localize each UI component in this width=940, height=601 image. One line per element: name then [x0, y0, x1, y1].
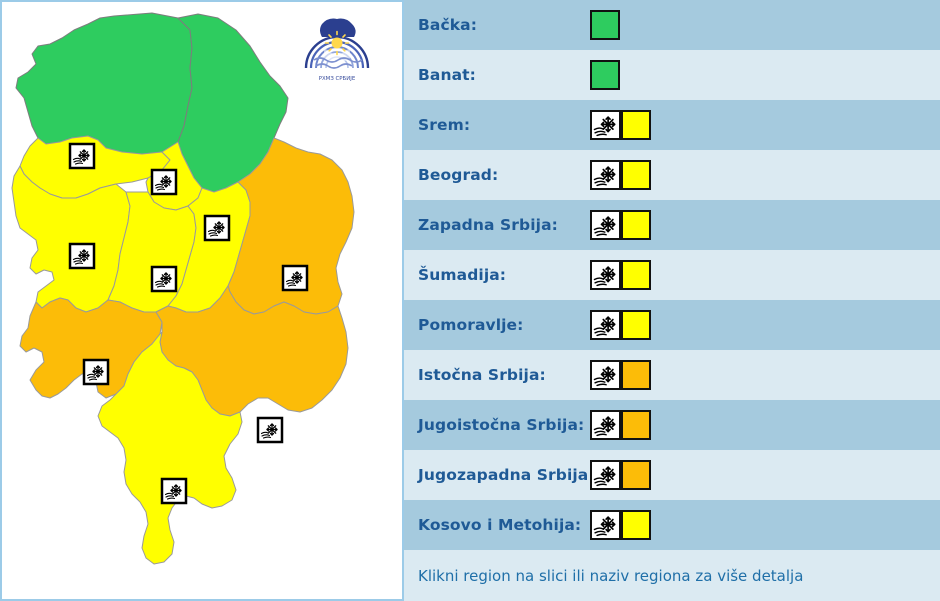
region-link-zapadna-srbija[interactable]: Zapadna Srbija:	[418, 216, 590, 234]
map-icon-pomoravlje	[205, 216, 229, 240]
warning-swatches	[590, 460, 651, 490]
table-row[interactable]: Zapadna Srbija:	[404, 200, 940, 250]
warning-swatches	[590, 10, 620, 40]
map-icon-sumadija	[152, 267, 176, 291]
region-link-beograd[interactable]: Beograd:	[418, 166, 590, 184]
blowing-snow-icon	[590, 410, 621, 440]
warning-swatches	[590, 360, 651, 390]
table-row[interactable]: Srem:	[404, 100, 940, 150]
map-panel: РХМЗ СРБИЈЕ	[0, 0, 404, 601]
level-swatch-yellow	[621, 260, 651, 290]
level-swatch-orange	[621, 460, 651, 490]
warning-swatches	[590, 260, 651, 290]
map-icon-istocna-srbija	[283, 266, 307, 290]
blowing-snow-icon	[590, 110, 621, 140]
region-link-backa[interactable]: Bačka:	[418, 16, 590, 34]
blowing-snow-icon	[590, 210, 621, 240]
warning-swatches	[590, 410, 651, 440]
logo-caption: РХМЗ СРБИЈЕ	[319, 76, 356, 82]
table-row[interactable]: Jugoistočna Srbija:	[404, 400, 940, 450]
rhmz-serbia-logo: РХМЗ СРБИЈЕ	[300, 10, 374, 86]
table-row[interactable]: Istočna Srbija:	[404, 350, 940, 400]
table-row[interactable]: Pomoravlje:	[404, 300, 940, 350]
map-icon-srem	[70, 144, 94, 168]
region-link-jugoistocna-srbija[interactable]: Jugoistočna Srbija:	[418, 416, 590, 434]
table-row[interactable]: Kosovo i Metohija:	[404, 500, 940, 550]
table-row[interactable]: Šumadija:	[404, 250, 940, 300]
warning-swatches	[590, 60, 620, 90]
blowing-snow-icon	[590, 360, 621, 390]
map-icon-kosovo-i-metohija	[162, 479, 186, 503]
map-icon-beograd	[152, 170, 176, 194]
table-footer: Klikni region na slici ili naziv regiona…	[404, 550, 940, 601]
region-link-kosovo-i-metohija[interactable]: Kosovo i Metohija:	[418, 516, 590, 534]
blowing-snow-icon	[590, 460, 621, 490]
level-swatch-yellow	[621, 110, 651, 140]
level-swatch-green	[590, 60, 620, 90]
table-row[interactable]: Jugozapadna Srbija:	[404, 450, 940, 500]
map-icon-zapadna-srbija	[70, 244, 94, 268]
region-link-sumadija[interactable]: Šumadija:	[418, 266, 590, 284]
table-row[interactable]: Beograd:	[404, 150, 940, 200]
level-swatch-orange	[621, 360, 651, 390]
footer-hint-text: Klikni region na slici ili naziv regiona…	[418, 567, 803, 585]
serbia-warning-map[interactable]	[2, 2, 402, 599]
warning-swatches	[590, 210, 651, 240]
warning-swatches	[590, 310, 651, 340]
region-link-pomoravlje[interactable]: Pomoravlje:	[418, 316, 590, 334]
level-swatch-yellow	[621, 310, 651, 340]
table-row[interactable]: Bačka:	[404, 0, 940, 50]
region-warning-table: Bačka: Banat: Srem: Beograd:	[404, 0, 940, 601]
blowing-snow-icon	[590, 510, 621, 540]
blowing-snow-icon	[590, 260, 621, 290]
warning-swatches	[590, 110, 651, 140]
table-row[interactable]: Banat:	[404, 50, 940, 100]
warning-swatches	[590, 160, 651, 190]
region-link-srem[interactable]: Srem:	[418, 116, 590, 134]
map-icon-jugoistocna-srbija	[258, 418, 282, 442]
region-link-banat[interactable]: Banat:	[418, 66, 590, 84]
level-swatch-green	[590, 10, 620, 40]
blowing-snow-icon	[590, 310, 621, 340]
level-swatch-orange	[621, 410, 651, 440]
region-link-istocna-srbija[interactable]: Istočna Srbija:	[418, 366, 590, 384]
region-link-jugozapadna-srbija[interactable]: Jugozapadna Srbija:	[418, 466, 590, 484]
blowing-snow-icon	[590, 160, 621, 190]
level-swatch-yellow	[621, 510, 651, 540]
level-swatch-yellow	[621, 210, 651, 240]
warning-page: РХМЗ СРБИЈЕ Bačka: Banat: Srem:	[0, 0, 940, 601]
map-icon-jugozapadna-srbija	[84, 360, 108, 384]
level-swatch-yellow	[621, 160, 651, 190]
warning-swatches	[590, 510, 651, 540]
map-region-backa[interactable]	[16, 13, 192, 154]
